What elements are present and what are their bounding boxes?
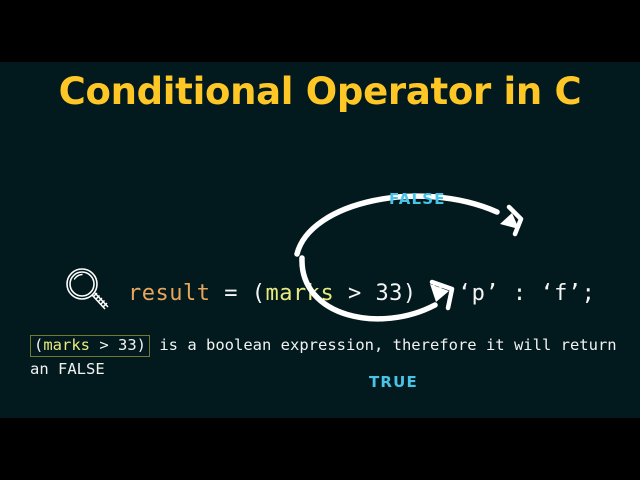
video-frame: Conditional Operator in C result = (mark… (0, 0, 640, 480)
code-token-marks: marks (265, 281, 334, 306)
code-token-rest: > 33) ? ‘p’ : ‘f’; (334, 281, 595, 306)
code-expression: result = (marks > 33) ? ‘p’ : ‘f’; (128, 281, 595, 306)
magnifier-icon (58, 262, 114, 318)
label-false: FALSE (389, 190, 446, 208)
code-token-result: result (128, 281, 210, 306)
chip-suffix: > 33) (90, 336, 146, 354)
caption-line-1: is a boolean expression, therefore it wi… (150, 336, 617, 354)
chip-prefix: ( (34, 336, 43, 354)
caption-line-2: an FALSE (30, 360, 105, 378)
code-token-open: = ( (210, 281, 265, 306)
page-title: Conditional Operator in C (0, 70, 640, 113)
caption-text: (marks > 33) is a boolean expression, th… (30, 333, 622, 381)
video-content-area: Conditional Operator in C result = (mark… (0, 62, 640, 418)
caption-highlight-chip: (marks > 33) (30, 335, 150, 357)
chip-ident: marks (43, 336, 90, 354)
